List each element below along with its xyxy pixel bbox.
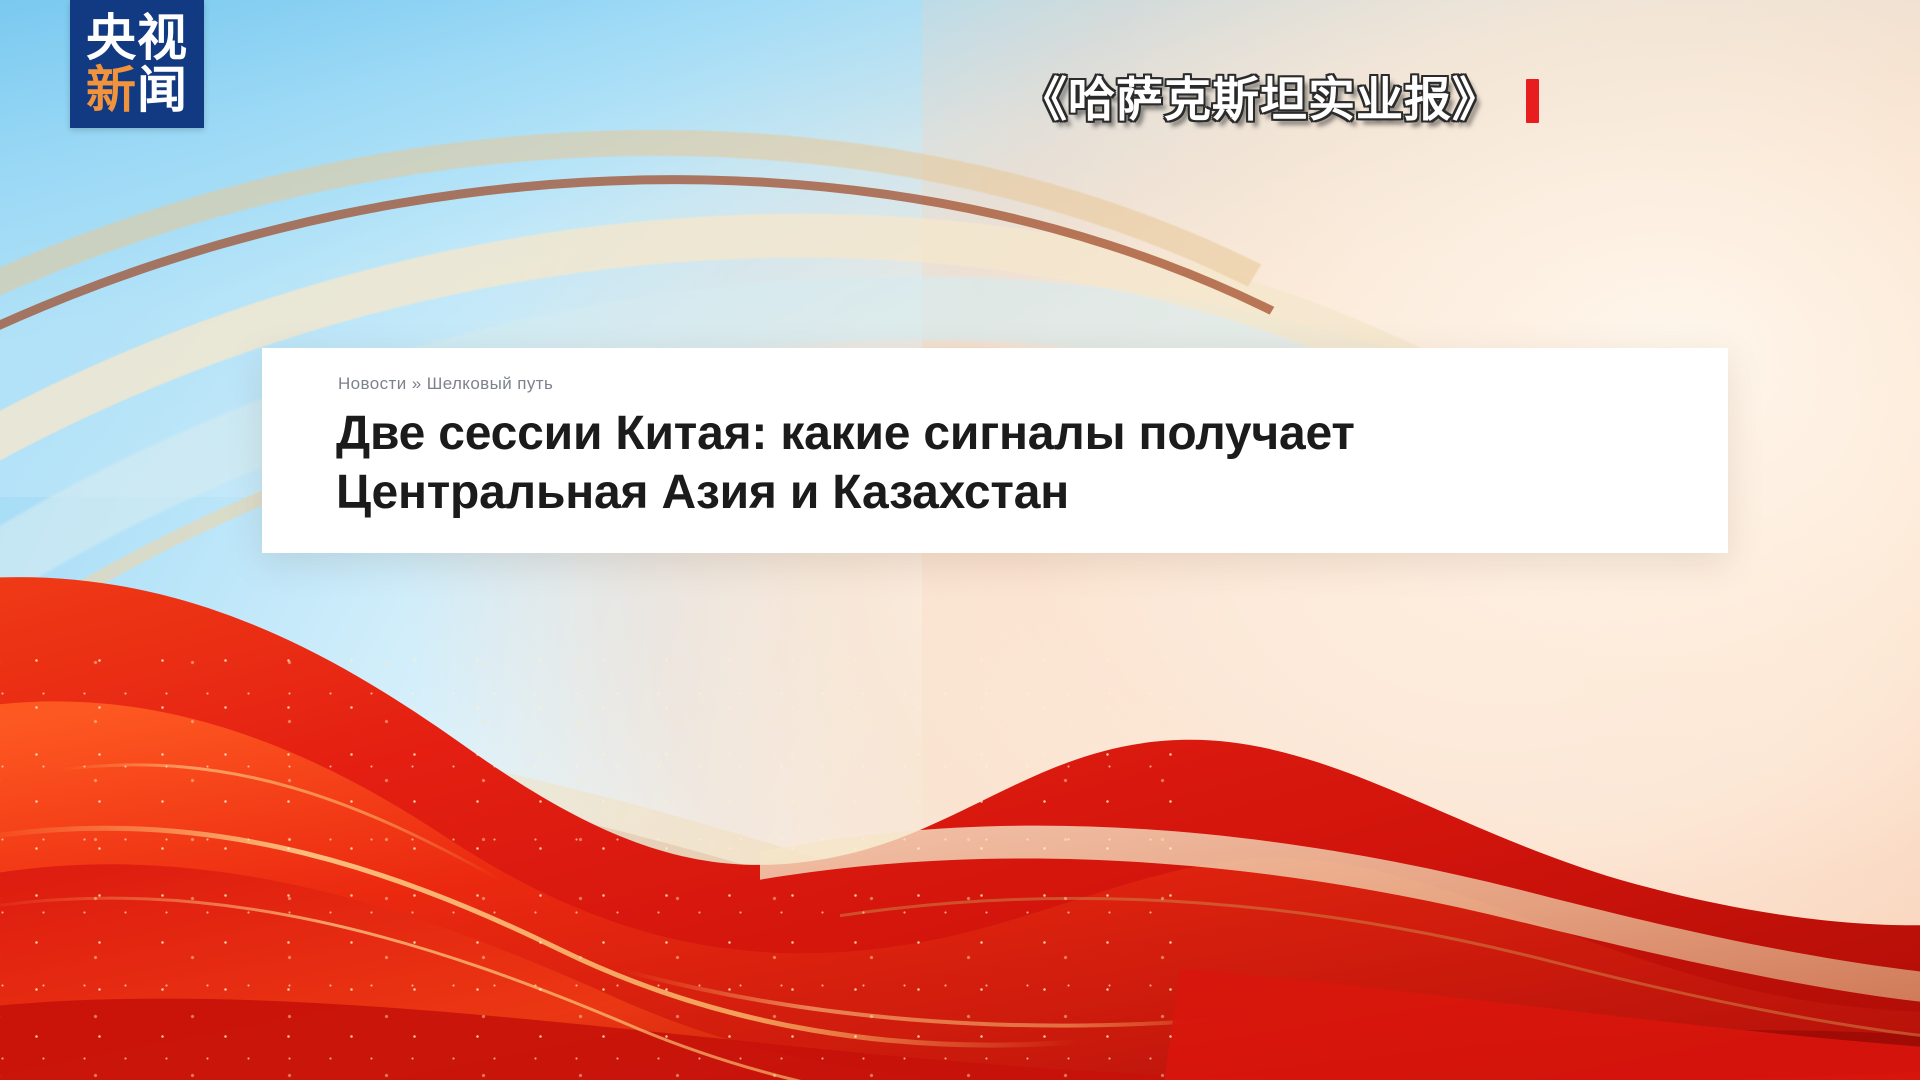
breadcrumb[interactable]: Новости » Шелковый путь [338, 374, 553, 394]
news-card: Новости » Шелковый путь Две сессии Китая… [262, 348, 1728, 553]
logo-char-xin: 新 [86, 65, 137, 115]
source-title-group: 《哈萨克斯坦实业报》 [1020, 76, 1539, 125]
cctv-news-logo: 央视 新 闻 [70, 0, 204, 128]
broadcast-graphic: 央视 新 闻 《哈萨克斯坦实业报》 Новости » Шелковый пут… [0, 0, 1920, 1080]
logo-line-xinwen: 新 闻 [86, 65, 188, 115]
page-title: Две сессии Китая: какие сигналы получает… [336, 405, 1680, 522]
logo-line-yangshi: 央视 [86, 13, 188, 63]
source-title: 《哈萨克斯坦实业报》 [1020, 76, 1500, 125]
red-accent-bar [1526, 79, 1539, 123]
logo-char-wen: 闻 [137, 65, 188, 115]
